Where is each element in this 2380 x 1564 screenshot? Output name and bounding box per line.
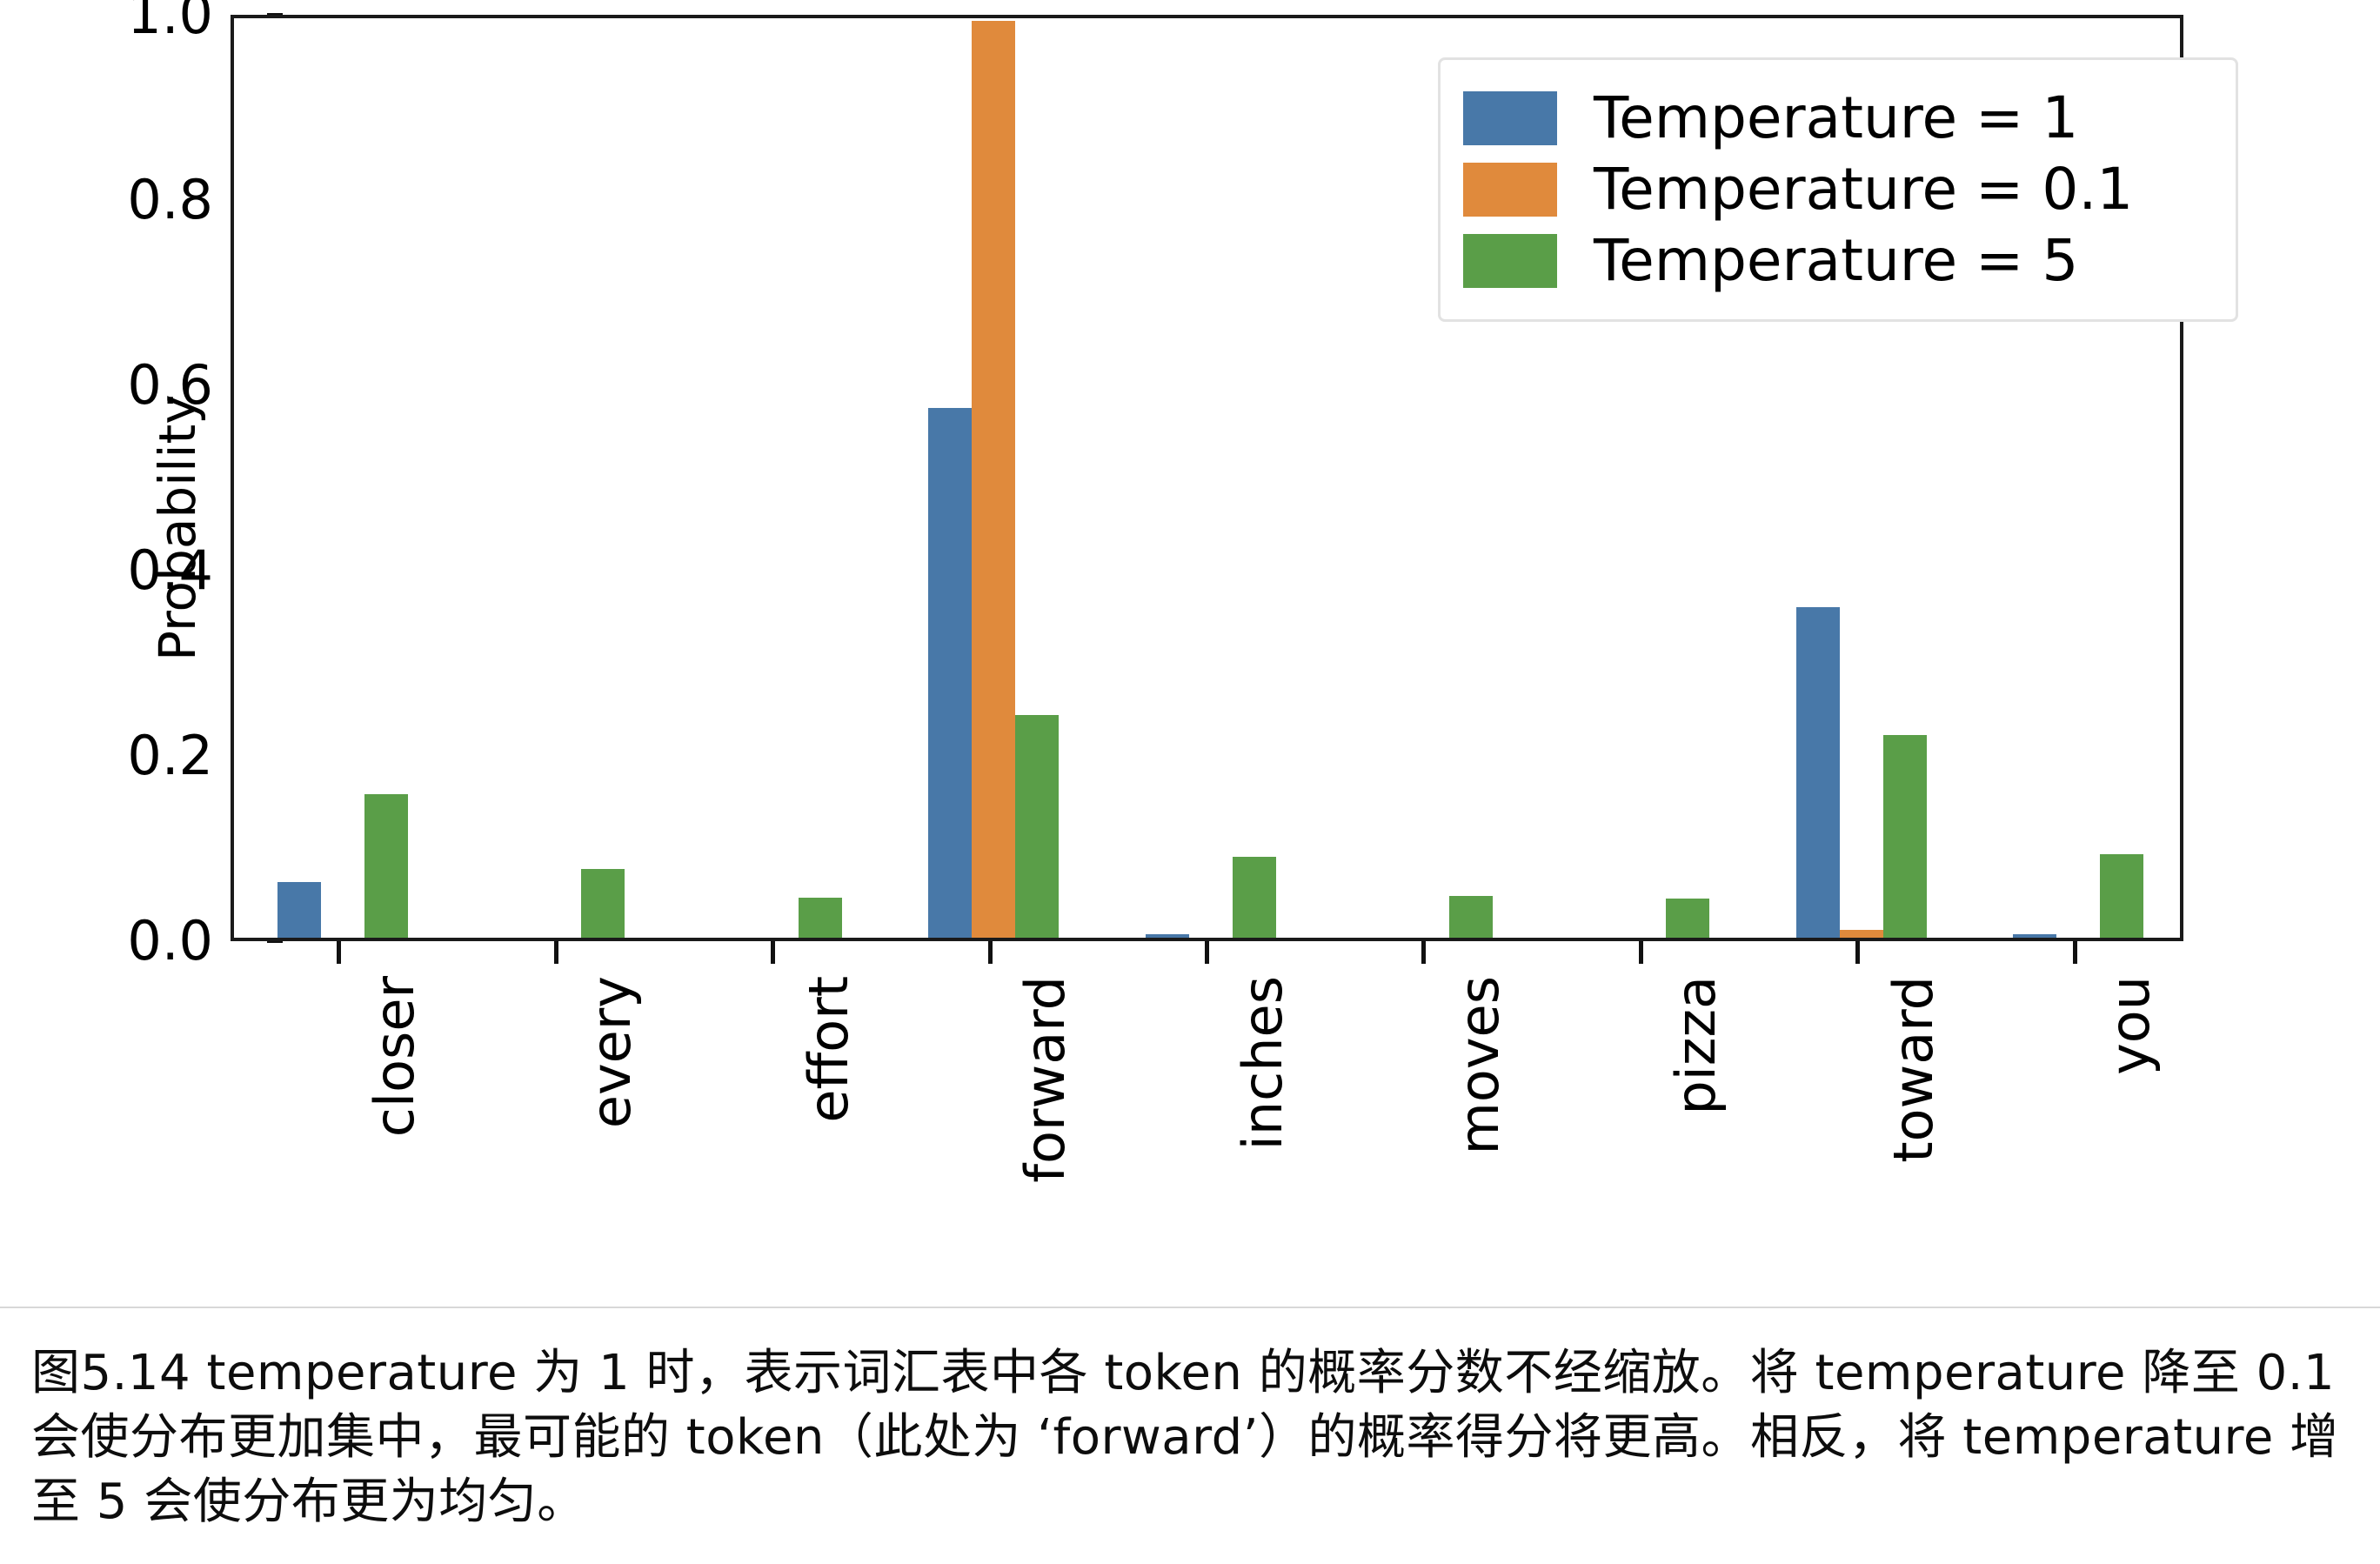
bar: [1840, 930, 1883, 938]
legend-item: Temperature = 0.1: [1463, 154, 2210, 225]
bar: [799, 898, 842, 938]
legend-item: Temperature = 5: [1463, 225, 2210, 297]
bar: [2100, 854, 2143, 938]
bar: [1796, 607, 1840, 938]
x-tick-mark: [2073, 941, 2077, 964]
legend-swatch-icon: [1463, 163, 1557, 217]
x-tick-mark: [554, 941, 558, 964]
bar: [1015, 715, 1059, 938]
legend-swatch-icon: [1463, 91, 1557, 145]
x-axis-ticks: closereveryeffortforwardinchesmovespizza…: [231, 941, 2183, 1307]
x-tick-mark: [988, 941, 993, 964]
bar-group: [928, 18, 1059, 938]
x-tick-mark: [1639, 941, 1643, 964]
legend-label: Temperature = 0.1: [1594, 161, 2133, 218]
bar: [1883, 735, 1927, 938]
y-tick-label: 1.0: [74, 0, 213, 42]
legend-label: Temperature = 5: [1594, 232, 2078, 290]
y-axis-ticks: 0.00.20.40.60.81.0: [52, 0, 213, 957]
bar: [928, 408, 972, 938]
figure-caption: 图5.14 temperature 为 1 时，表示词汇表中各 token 的概…: [31, 1341, 2345, 1534]
bar-group: [1146, 18, 1276, 938]
caption-section: 图5.14 temperature 为 1 时，表示词汇表中各 token 的概…: [0, 1307, 2380, 1564]
bar: [1146, 934, 1189, 938]
y-tick-label: 0.8: [74, 173, 213, 227]
figure-bar-chart: Probability 0.00.20.40.60.81.0 closereve…: [0, 0, 2380, 1305]
x-tick-mark: [337, 941, 341, 964]
bar: [2013, 934, 2056, 938]
legend-label: Temperature = 1: [1594, 90, 2078, 147]
bar: [277, 882, 321, 938]
bar: [972, 21, 1015, 938]
legend-swatch-icon: [1463, 234, 1557, 288]
x-tick-mark: [1855, 941, 1860, 964]
x-tick-mark: [1421, 941, 1426, 964]
bar: [1233, 857, 1276, 938]
bar-group: [712, 18, 842, 938]
y-tick-label: 0.2: [74, 729, 213, 783]
bar: [364, 794, 408, 938]
chart-legend: Temperature = 1Temperature = 0.1Temperat…: [1438, 57, 2238, 322]
x-tick-mark: [771, 941, 775, 964]
x-tick-mark: [1205, 941, 1209, 964]
bar: [1666, 899, 1709, 938]
legend-item: Temperature = 1: [1463, 83, 2210, 154]
y-tick-label: 0.6: [74, 358, 213, 412]
y-tick-label: 0.4: [74, 544, 213, 598]
bar-group: [277, 18, 408, 938]
bar: [581, 869, 625, 938]
y-tick-label: 0.0: [74, 914, 213, 968]
bar: [1449, 896, 1493, 938]
bar-group: [494, 18, 625, 938]
